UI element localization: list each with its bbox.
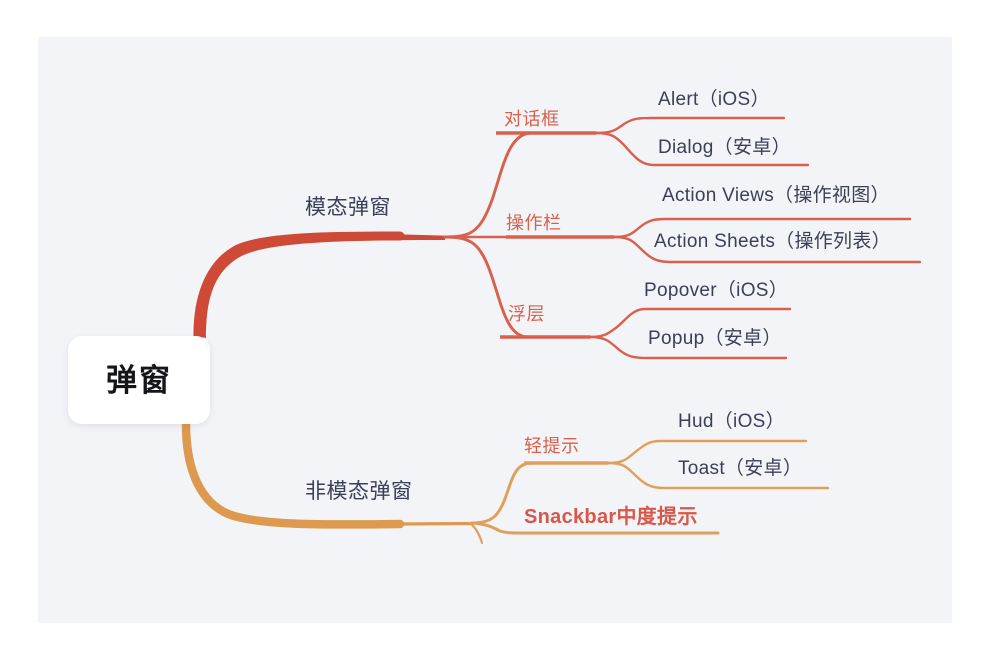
- leaf-action-views[interactable]: Action Views（操作视图）: [662, 186, 890, 205]
- leaf-alert-ios-label: Alert（iOS）: [658, 89, 770, 110]
- root-node-label: 弹窗: [106, 365, 172, 396]
- mindmap-stage: 弹窗 模态弹窗 非模态弹窗 对话框 操作栏 浮层 轻提示 Snackbar中度提…: [0, 0, 1000, 645]
- leaf-dialog-android[interactable]: Dialog（安卓）: [658, 138, 791, 157]
- node-dialogbox-label: 对话框: [504, 109, 560, 129]
- leaf-popup-android-label: Popup（安卓）: [648, 328, 782, 349]
- node-modal-popup-label: 模态弹窗: [305, 196, 391, 219]
- leaf-popover-ios-label: Popover（iOS）: [644, 280, 788, 301]
- node-nonmodal-popup-label: 非模态弹窗: [305, 480, 413, 503]
- leaf-dialog-android-label: Dialog（安卓）: [658, 137, 791, 158]
- node-lighttip-label: 轻提示: [524, 436, 580, 456]
- leaf-alert-ios[interactable]: Alert（iOS）: [658, 90, 770, 109]
- node-actionbar[interactable]: 操作栏: [506, 214, 562, 232]
- node-lighttip[interactable]: 轻提示: [524, 437, 580, 455]
- leaf-toast-android-label: Toast（安卓）: [678, 458, 802, 479]
- node-modal-popup[interactable]: 模态弹窗: [305, 197, 391, 218]
- node-popuplayer-label: 浮层: [508, 304, 545, 324]
- leaf-toast-android[interactable]: Toast（安卓）: [678, 459, 802, 478]
- leaf-hud-ios-label: Hud（iOS）: [678, 411, 785, 432]
- leaf-popover-ios[interactable]: Popover（iOS）: [644, 281, 788, 300]
- leaf-action-sheets[interactable]: Action Sheets（操作列表）: [654, 232, 891, 251]
- leaf-popup-android[interactable]: Popup（安卓）: [648, 329, 782, 348]
- leaf-hud-ios[interactable]: Hud（iOS）: [678, 412, 785, 431]
- root-node[interactable]: 弹窗: [68, 336, 210, 424]
- node-snackbar[interactable]: Snackbar中度提示: [524, 507, 698, 527]
- leaf-action-sheets-label: Action Sheets（操作列表）: [654, 231, 891, 252]
- node-nonmodal-popup[interactable]: 非模态弹窗: [305, 481, 413, 502]
- leaf-action-views-label: Action Views（操作视图）: [662, 185, 890, 206]
- node-snackbar-label: Snackbar中度提示: [524, 506, 698, 528]
- mindmap-canvas: [38, 37, 952, 623]
- node-actionbar-label: 操作栏: [506, 213, 562, 233]
- node-popuplayer[interactable]: 浮层: [508, 305, 545, 323]
- node-dialogbox[interactable]: 对话框: [504, 110, 560, 128]
